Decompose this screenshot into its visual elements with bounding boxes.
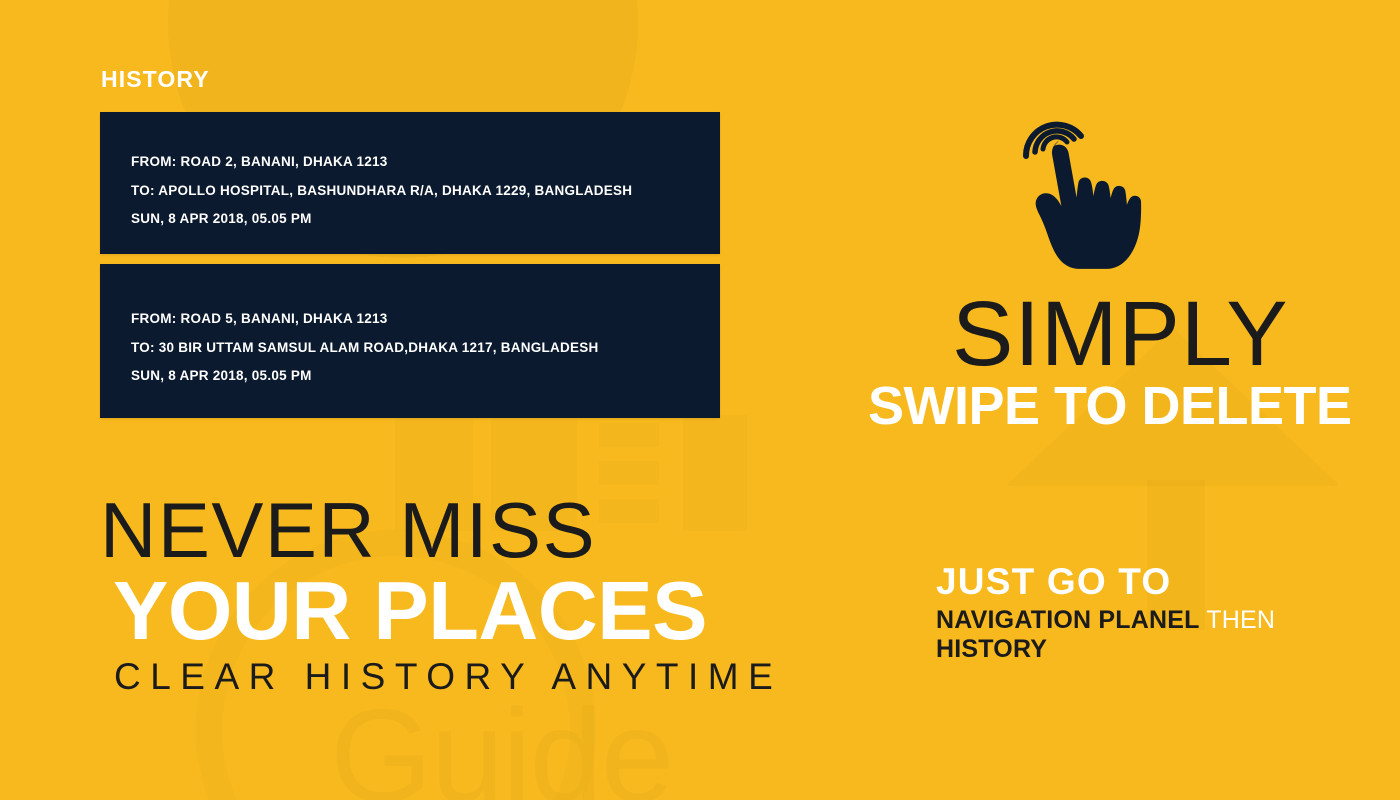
instruction-navigation-panel: NAVIGATION PLANEL xyxy=(936,606,1199,634)
tap-hand-icon xyxy=(1010,110,1160,290)
instruction-line-1: JUST GO TO xyxy=(936,562,1326,602)
headline-line-1: NEVER MISS xyxy=(100,492,782,568)
history-entry-card[interactable]: FROM: ROAD 5, BANANI, DHAKA 1213 TO: 30 … xyxy=(100,264,720,418)
trip-timestamp: SUN, 8 APR 2018, 05.05 PM xyxy=(131,205,720,234)
poster-canvas: Guide HISTORY FROM: ROAD 2, BANANI, DHAK… xyxy=(0,0,1400,800)
headline-line-2: YOUR PLACES xyxy=(113,568,782,654)
instruction-line-2: NAVIGATION PLANEL THEN HISTORY xyxy=(936,606,1326,664)
swipe-to-delete-heading: SWIPE TO DELETE xyxy=(868,378,1352,434)
trip-timestamp: SUN, 8 APR 2018, 05.05 PM xyxy=(131,362,720,391)
trip-from: FROM: ROAD 5, BANANI, DHAKA 1213 xyxy=(131,305,720,334)
trip-to: TO: APOLLO HOSPITAL, BASHUNDHARA R/A, DH… xyxy=(131,177,720,206)
headline-line-3: CLEAR HISTORY ANYTIME xyxy=(114,654,782,700)
instruction-then: THEN xyxy=(1206,606,1275,634)
history-panel-title: HISTORY xyxy=(101,66,210,93)
history-entry-card[interactable]: FROM: ROAD 2, BANANI, DHAKA 1213 TO: APO… xyxy=(100,112,720,254)
trip-from: FROM: ROAD 2, BANANI, DHAKA 1213 xyxy=(131,148,720,177)
simply-heading: SIMPLY xyxy=(952,288,1289,380)
instruction-history: HISTORY xyxy=(936,635,1047,663)
trip-to: TO: 30 BIR UTTAM SAMSUL ALAM ROAD,DHAKA … xyxy=(131,334,720,363)
watermark-wordmark: Guide xyxy=(330,690,672,800)
instruction-block: JUST GO TO NAVIGATION PLANEL THEN HISTOR… xyxy=(936,562,1326,664)
headline-block: NEVER MISS YOUR PLACES CLEAR HISTORY ANY… xyxy=(100,492,782,700)
